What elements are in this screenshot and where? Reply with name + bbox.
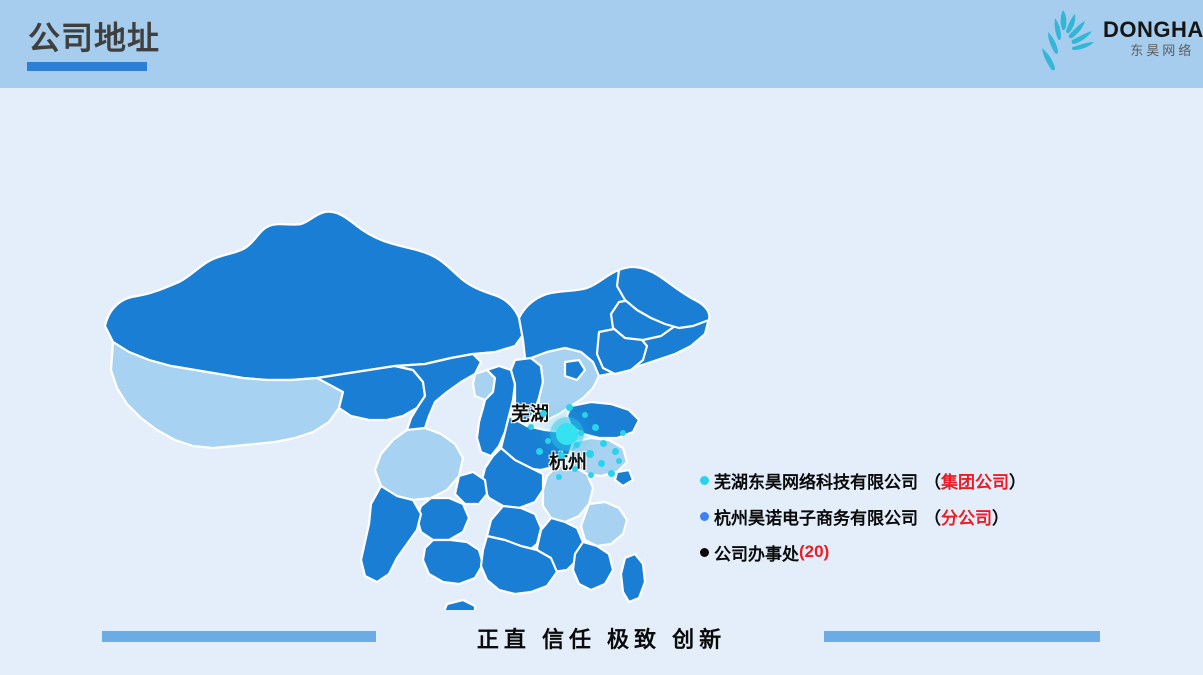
legend: 芜湖东昊网络科技有限公司 （集团公司） 杭州昊诺电子商务有限公司 （分公司） 公… xyxy=(700,462,1170,570)
legend-tag: （分公司） xyxy=(924,504,1009,529)
legend-item-group[interactable]: 芜湖东昊网络科技有限公司 （集团公司） xyxy=(700,462,1170,498)
brand-logo-text: DONGHAO 东昊网络 xyxy=(1103,18,1203,60)
legend-tag-value: 分公司 xyxy=(941,509,992,528)
slide-canvas: 公司地址 DONGHAO xyxy=(0,0,1203,675)
legend-bullet-icon xyxy=(700,476,709,485)
map-office-dot[interactable] xyxy=(582,412,588,418)
legend-tag-open: （ xyxy=(924,509,941,528)
brand-logo: DONGHAO 东昊网络 xyxy=(1023,6,1193,76)
brand-name: DONGHAO xyxy=(1103,18,1203,42)
footer-slogan: 正直 信任 极致 创新 xyxy=(0,622,1203,654)
map-office-dot[interactable] xyxy=(574,442,580,448)
legend-item-branch[interactable]: 杭州昊诺电子商务有限公司 （分公司） xyxy=(700,498,1170,534)
map-office-dot[interactable] xyxy=(578,430,584,436)
legend-tag-close: ） xyxy=(992,509,1009,528)
legend-tag-value: 集团公司 xyxy=(941,473,1009,492)
legend-label: 公司办事处 xyxy=(714,540,799,565)
wing-fan-icon xyxy=(1033,8,1105,72)
title-underline xyxy=(27,62,147,71)
legend-label: 杭州昊诺电子商务有限公司 xyxy=(714,504,918,529)
legend-tag: （集团公司） xyxy=(924,468,1026,493)
map-label-hangzhou: 杭州 xyxy=(549,447,587,474)
map-office-dot[interactable] xyxy=(588,472,594,478)
map-office-dot[interactable] xyxy=(528,424,534,430)
brand-subtitle: 东昊网络 xyxy=(1103,42,1203,60)
map-office-dot[interactable] xyxy=(536,448,543,455)
map-office-dot[interactable] xyxy=(586,450,594,458)
map-office-dot[interactable] xyxy=(558,452,565,459)
map-office-dot[interactable] xyxy=(540,410,547,417)
map-office-dot[interactable] xyxy=(608,470,615,477)
map-office-dot[interactable] xyxy=(572,466,578,472)
slide-header: 公司地址 DONGHAO xyxy=(0,0,1203,88)
map-office-dot[interactable] xyxy=(556,474,562,480)
legend-label: 芜湖东昊网络科技有限公司 xyxy=(714,468,918,493)
map-office-dot[interactable] xyxy=(620,430,626,436)
legend-item-offices[interactable]: 公司办事处 (20) xyxy=(700,534,1170,570)
legend-tag-close: ） xyxy=(1009,473,1026,492)
legend-bullet-icon xyxy=(700,512,709,521)
map-office-dot[interactable] xyxy=(598,460,605,467)
map-office-dot[interactable] xyxy=(600,440,607,447)
legend-bullet-icon xyxy=(700,548,709,557)
china-map[interactable] xyxy=(95,130,715,610)
page-title: 公司地址 xyxy=(28,19,160,57)
map-office-dot[interactable] xyxy=(545,438,551,444)
map-office-dot[interactable] xyxy=(592,424,599,431)
legend-office-count: (20) xyxy=(799,542,829,562)
legend-tag-open: （ xyxy=(924,473,941,492)
map-office-dot[interactable] xyxy=(616,458,622,464)
map-office-dot[interactable] xyxy=(566,404,573,411)
map-office-dot[interactable] xyxy=(612,448,619,455)
